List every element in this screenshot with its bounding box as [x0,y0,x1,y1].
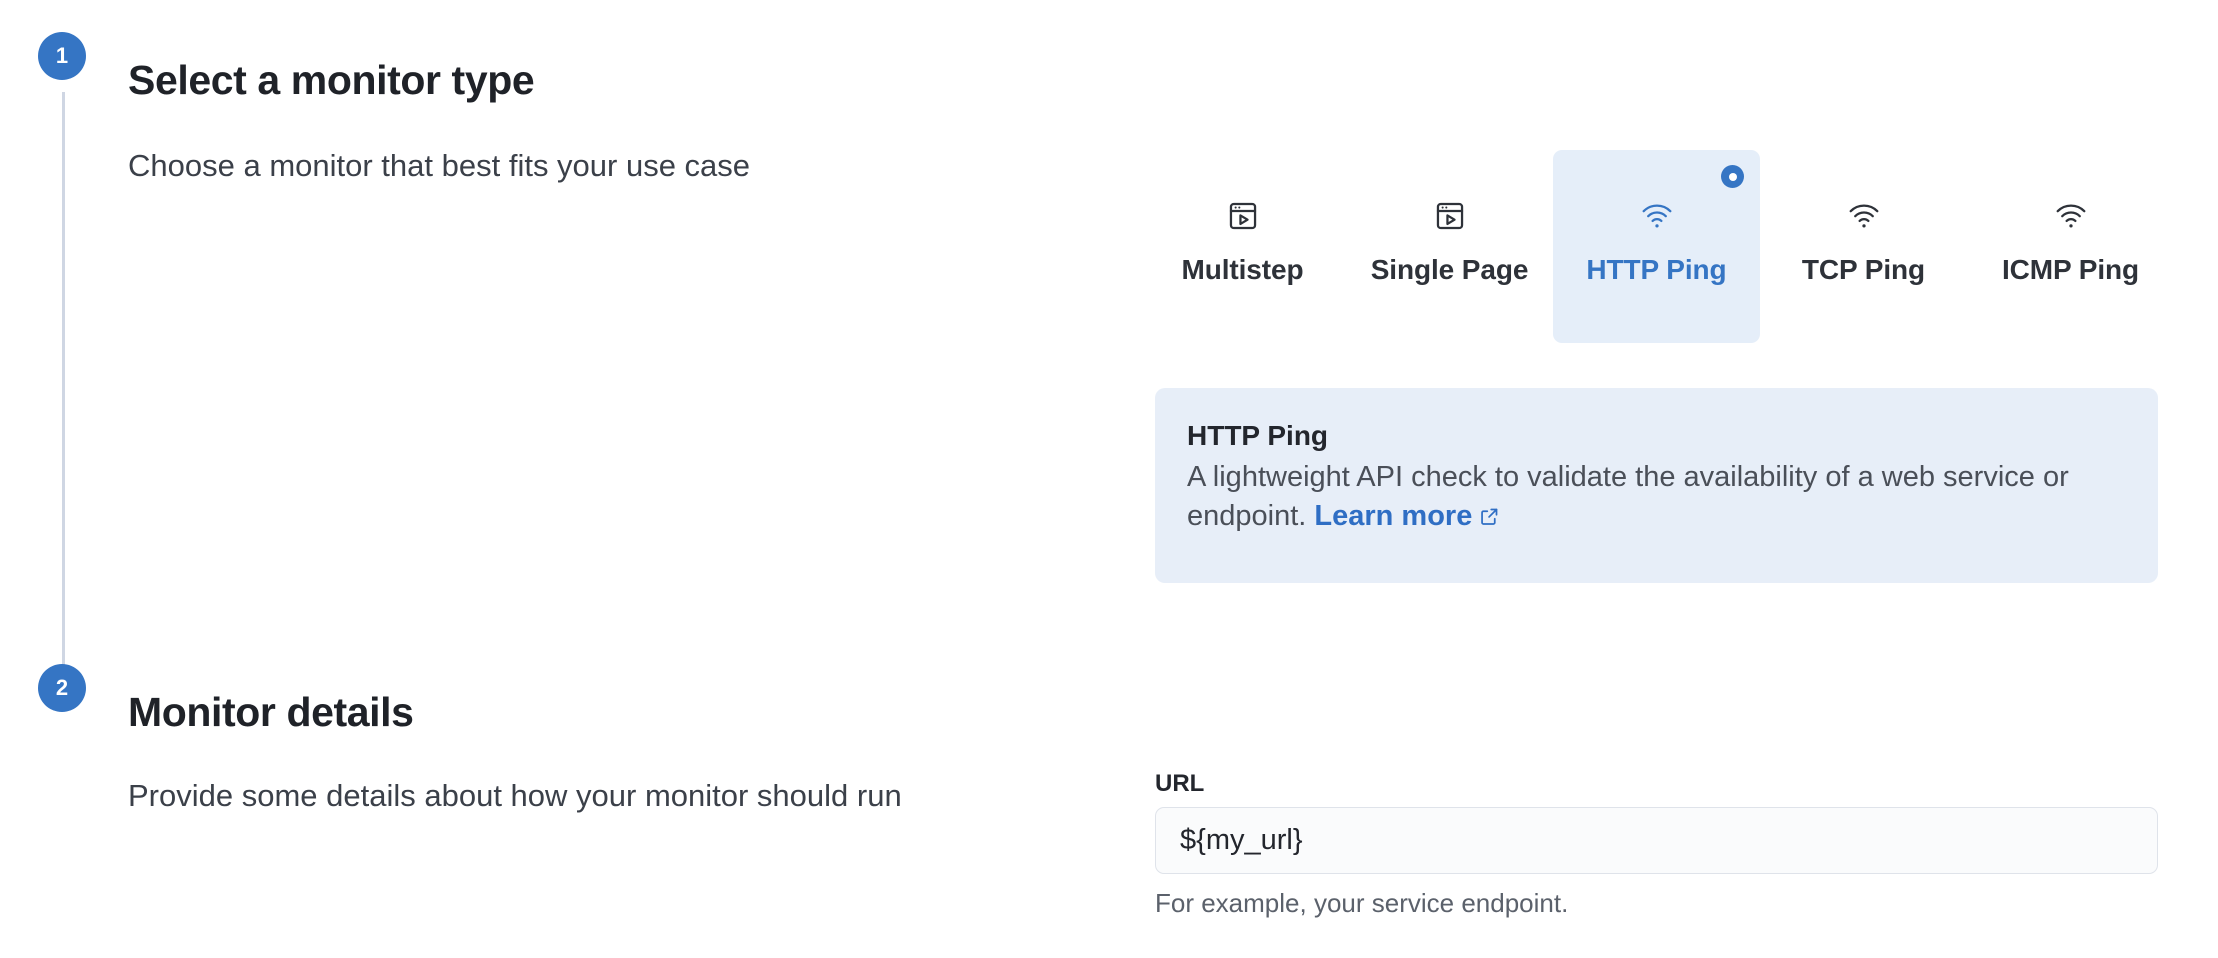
step-connector-line [62,92,65,670]
external-link-icon[interactable] [1479,499,1500,520]
monitor-creation-wizard: 1 2 Select a monitor type Choose a monit… [0,0,2218,958]
monitor-type-options: Multistep Single Page [1139,150,2174,343]
step-badge-2: 2 [38,664,86,712]
step-2-title: Monitor details [128,689,414,736]
monitor-type-card-icmp-ping[interactable]: ICMP Ping [1967,150,2174,343]
monitor-type-card-tcp-ping[interactable]: TCP Ping [1760,150,1967,343]
monitor-type-card-multistep[interactable]: Multistep [1139,150,1346,343]
wifi-icon [2054,199,2088,233]
monitor-type-label: HTTP Ping [1586,254,1726,286]
monitor-type-label: ICMP Ping [2002,254,2139,286]
url-field-help: For example, your service endpoint. [1155,888,1568,919]
step-2-subtitle: Provide some details about how your moni… [128,778,902,814]
step-badge-2-number: 2 [56,677,68,699]
step-1-subtitle: Choose a monitor that best fits your use… [128,148,750,184]
wifi-icon [1847,199,1881,233]
wifi-icon [1640,199,1674,233]
browser-play-icon [1226,199,1260,233]
step-badge-1: 1 [38,32,86,80]
browser-play-icon [1433,199,1467,233]
monitor-type-label: Multistep [1182,254,1304,286]
monitor-type-label: Single Page [1371,254,1529,286]
monitor-type-card-single-page[interactable]: Single Page [1346,150,1553,343]
radio-selected-icon[interactable] [1721,165,1744,188]
monitor-type-label: TCP Ping [1802,254,1925,286]
callout-body: A lightweight API check to validate the … [1187,458,2117,535]
monitor-type-card-http-ping[interactable]: HTTP Ping [1553,150,1760,343]
step-1-title: Select a monitor type [128,57,534,104]
callout-title: HTTP Ping [1187,420,2122,452]
monitor-type-info-callout: HTTP Ping A lightweight API check to val… [1155,388,2158,583]
url-input[interactable] [1155,807,2158,874]
url-field-label: URL [1155,770,1204,798]
step-badge-1-number: 1 [56,45,68,67]
learn-more-link[interactable]: Learn more [1314,500,1472,532]
